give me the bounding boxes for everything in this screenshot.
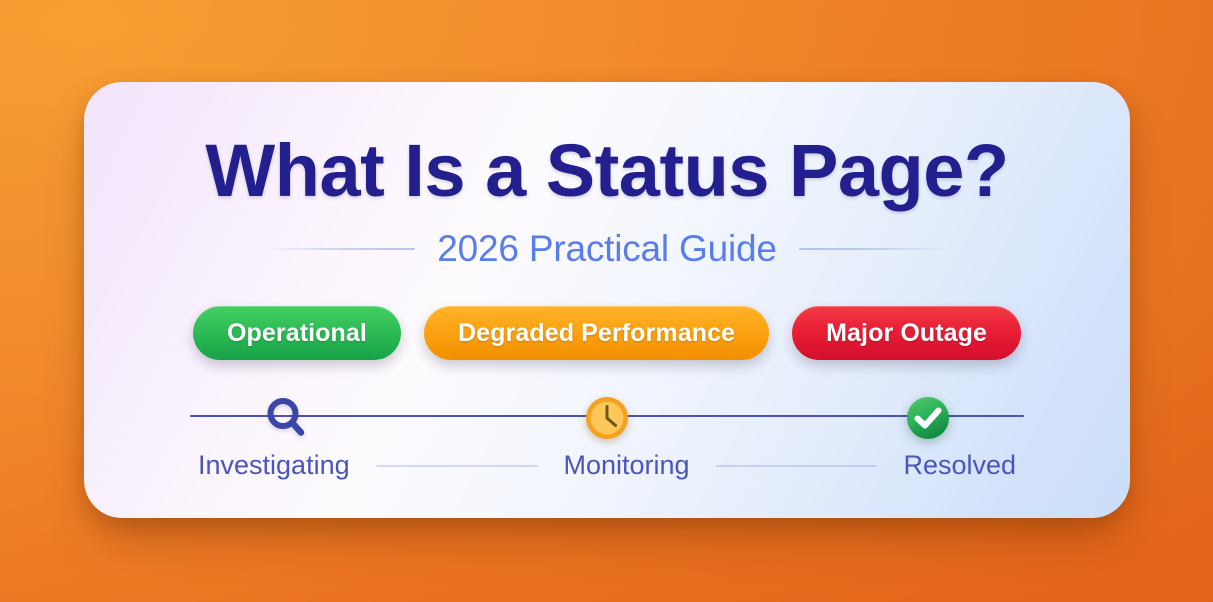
subtitle-rule-right xyxy=(799,248,951,250)
page-background: What Is a Status Page? 2026 Practical Gu… xyxy=(0,0,1213,602)
subtitle-row: 2026 Practical Guide xyxy=(84,228,1130,270)
timeline-node-group xyxy=(190,394,1024,442)
page-subtitle: 2026 Practical Guide xyxy=(437,228,776,270)
timeline-label-investigating: Investigating xyxy=(198,450,350,481)
hero-card-content: What Is a Status Page? 2026 Practical Gu… xyxy=(84,82,1130,518)
timeline-label-connector-2 xyxy=(716,465,878,467)
status-badge-major-outage[interactable]: Major Outage xyxy=(792,306,1021,360)
subtitle-rule-left xyxy=(263,248,415,250)
incident-timeline: Investigating Monitoring Resolved xyxy=(190,394,1024,504)
timeline-node-monitoring[interactable] xyxy=(583,394,631,442)
page-title: What Is a Status Page? xyxy=(84,134,1130,208)
clock-icon xyxy=(583,394,631,442)
timeline-label-connector-1 xyxy=(376,465,538,467)
timeline-label-monitoring: Monitoring xyxy=(564,450,690,481)
check-circle-icon xyxy=(904,394,952,442)
timeline-node-resolved[interactable] xyxy=(904,394,952,442)
timeline-label-group: Investigating Monitoring Resolved xyxy=(190,450,1024,481)
timeline-node-investigating[interactable] xyxy=(262,394,310,442)
status-badge-degraded-performance[interactable]: Degraded Performance xyxy=(424,306,769,360)
magnifier-icon xyxy=(262,394,310,442)
status-badge-group: Operational Degraded Performance Major O… xyxy=(84,306,1130,360)
timeline-label-resolved: Resolved xyxy=(903,450,1016,481)
hero-card: What Is a Status Page? 2026 Practical Gu… xyxy=(84,82,1130,518)
status-badge-operational[interactable]: Operational xyxy=(193,306,401,360)
